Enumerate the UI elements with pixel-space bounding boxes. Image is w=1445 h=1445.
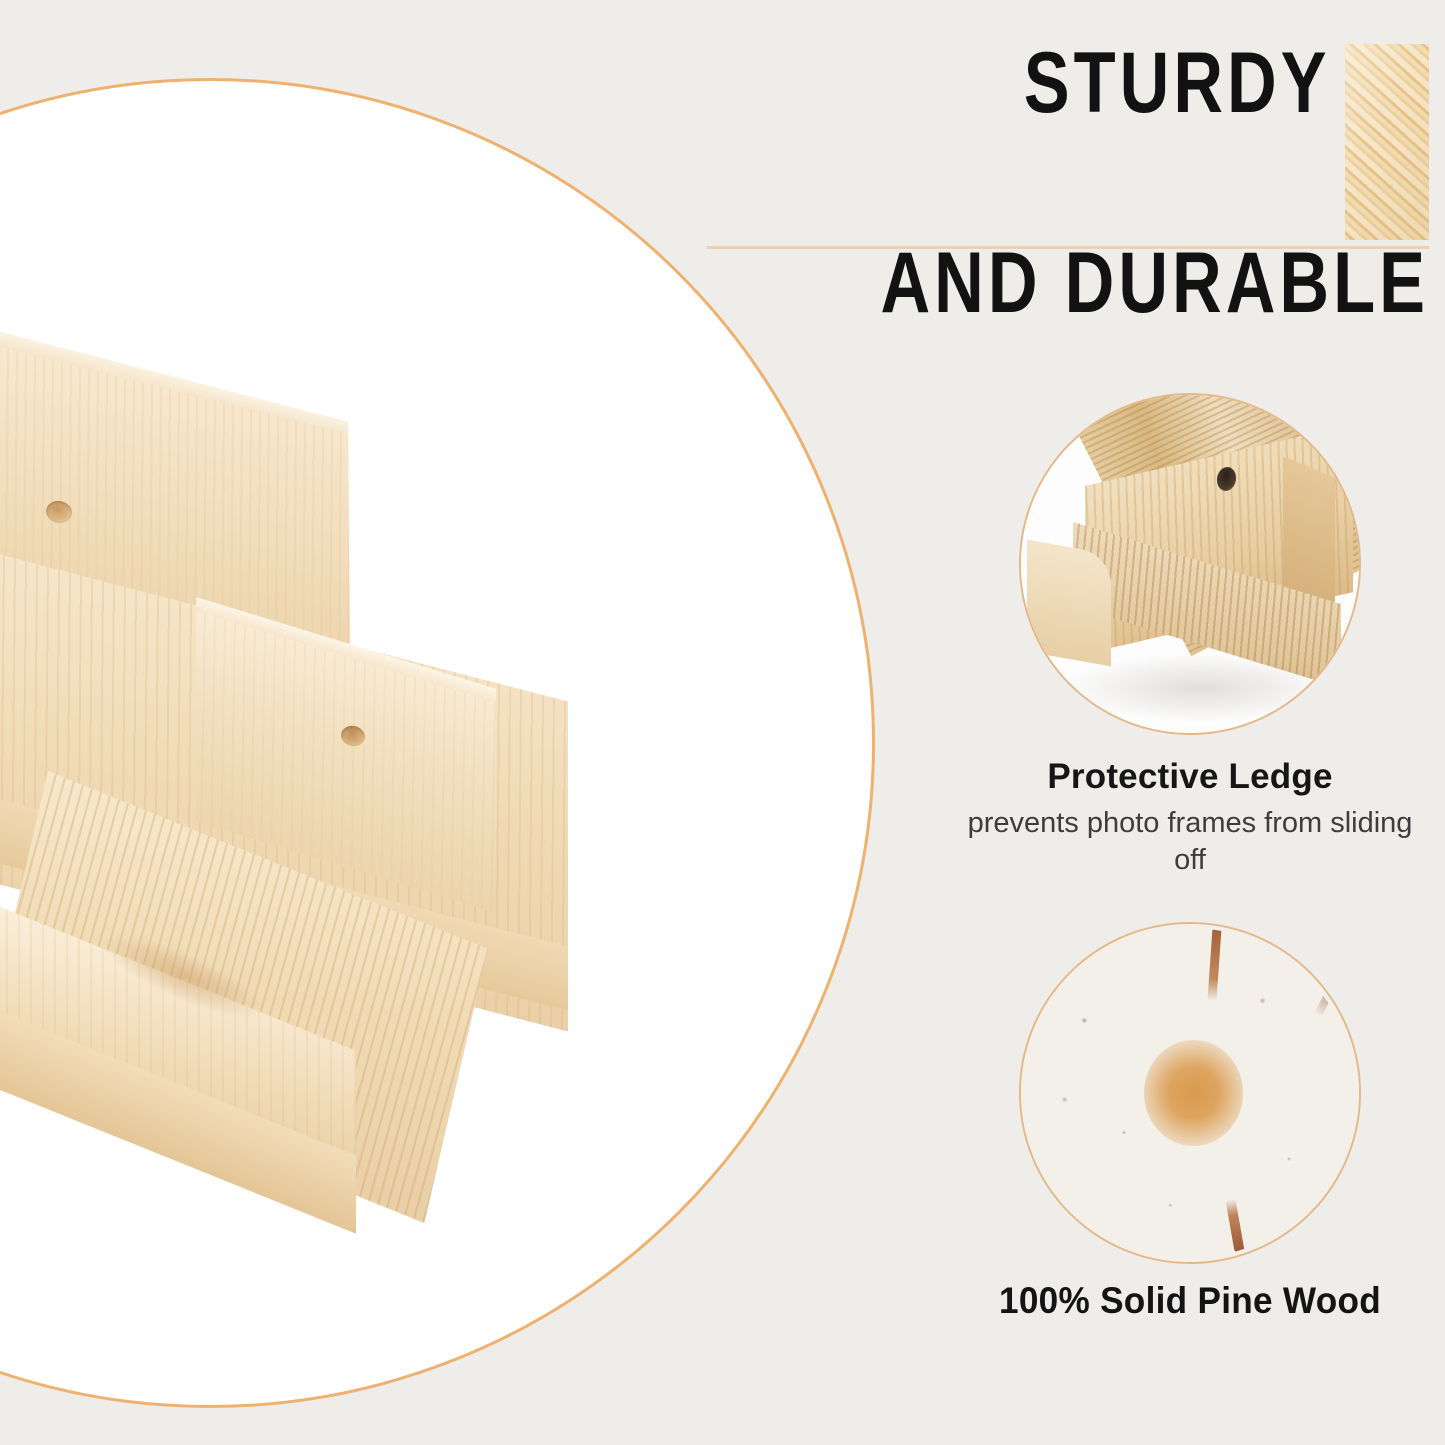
- inset-2-background: [1021, 924, 1359, 1262]
- inset-1-drop-shadow: [1061, 653, 1341, 723]
- product-photo-wood-shelves: [0, 81, 872, 1405]
- marketing-image-canvas: STURDY AND DURABLE: [0, 0, 1445, 1445]
- pine-log-end-grain-inset: [1019, 922, 1361, 1264]
- feature-1-subtitle: prevents photo frames from sliding off: [950, 805, 1430, 879]
- headline-line-1: STURDY: [1024, 40, 1331, 128]
- headline-line-1-wrap: STURDY: [947, 38, 1331, 128]
- feature-1-title: Protective Ledge: [950, 757, 1430, 797]
- headline-line-2: AND DURABLE: [837, 240, 1429, 328]
- product-photo-circle: [0, 78, 875, 1408]
- feature-solid-pine-wood: 100% Solid Pine Wood: [950, 922, 1430, 1322]
- inset-1-left-ledge: [1027, 540, 1111, 667]
- inset-2-log-cross-section: [1025, 928, 1355, 1258]
- feature-2-caption: 100% Solid Pine Wood: [962, 1280, 1418, 1322]
- shelf-underside-detail-inset: [1019, 393, 1361, 735]
- feature-protective-ledge: Protective Ledge prevents photo frames f…: [950, 393, 1430, 879]
- inset-2-knot-spots: [1025, 928, 1355, 1258]
- wood-grain-swatch-icon: [1345, 44, 1429, 240]
